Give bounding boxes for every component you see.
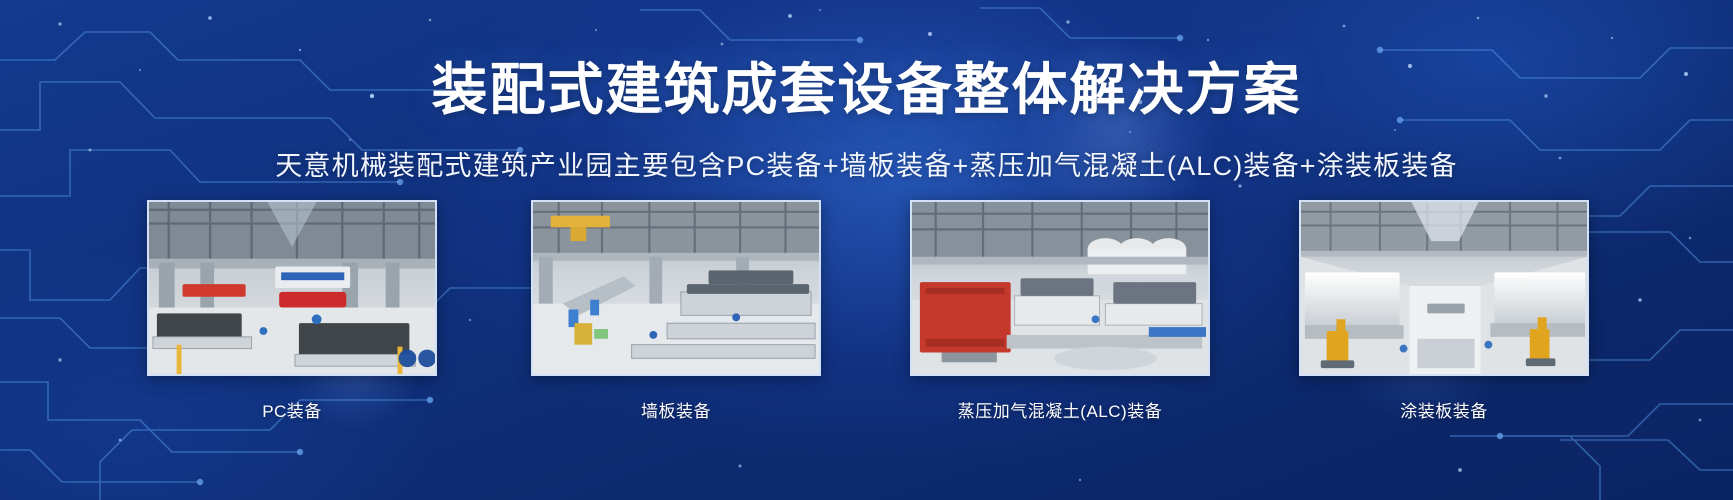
promo-banner: 装配式建筑成套设备整体解决方案 天意机械装配式建筑产业园主要包含PC装备+墙板装… <box>0 0 1733 500</box>
equipment-card-list: PC装备 <box>122 200 1614 422</box>
card-caption: 墙板装备 <box>641 397 711 422</box>
page-subtitle: 天意机械装配式建筑产业园主要包含PC装备+墙板装备+蒸压加气混凝土(ALC)装备… <box>0 152 1733 182</box>
equipment-card-coating-panel[interactable]: 涂装板装备 <box>1274 200 1614 422</box>
equipment-card-wall-panel[interactable]: 墙板装备 <box>506 200 846 422</box>
equipment-card-pc[interactable]: PC装备 <box>122 200 462 422</box>
wall-panel-line-photo <box>531 200 821 376</box>
pc-production-line-photo <box>147 200 437 376</box>
coating-panel-line-photo <box>1299 200 1589 376</box>
equipment-card-alc[interactable]: 蒸压加气混凝土(ALC)装备 <box>890 200 1230 422</box>
card-caption: 蒸压加气混凝土(ALC)装备 <box>958 397 1162 422</box>
card-caption: 涂装板装备 <box>1400 397 1488 422</box>
alc-line-photo <box>910 200 1210 376</box>
page-title: 装配式建筑成套设备整体解决方案 <box>0 62 1733 118</box>
card-caption: PC装备 <box>262 397 322 422</box>
